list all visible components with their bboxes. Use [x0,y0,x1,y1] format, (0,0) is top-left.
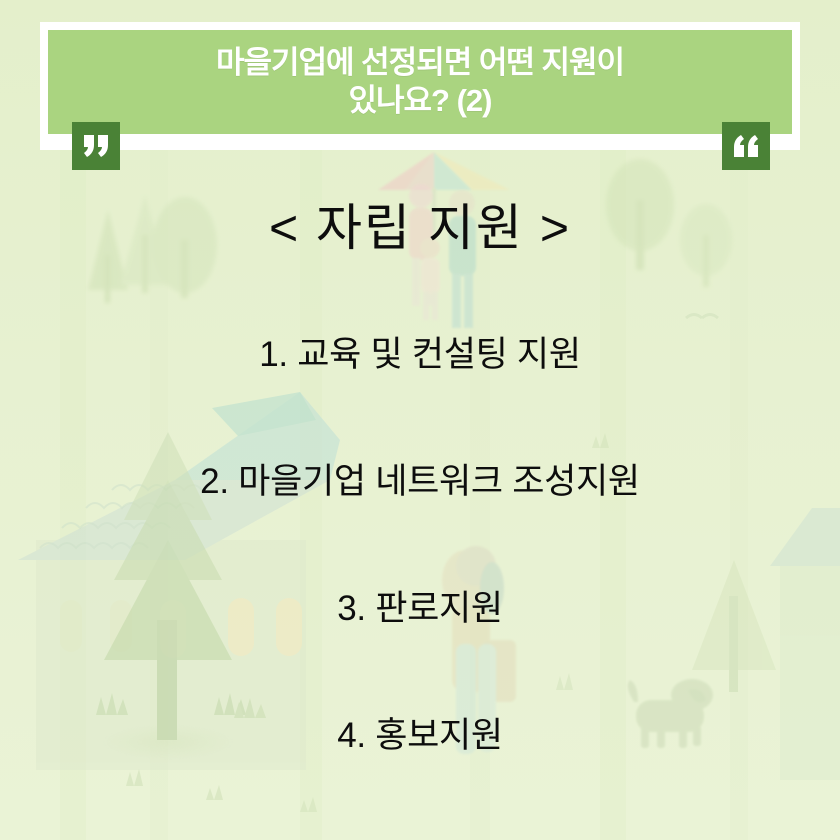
banner-title-text: 마을기업에 선정되면 어떤 지원이 있나요? (2) [194,44,646,120]
list-item: 3. 판로지원 [0,576,840,640]
banner-title-line2: 있나요? (2) [216,82,624,120]
open-quote-icon [81,133,111,159]
info-card: 마을기업에 선정되면 어떤 지원이 있나요? (2) < 자립 지원 > 1. … [0,0,840,840]
content-area: < 자립 지원 > 1. 교육 및 컨설팅 지원 2. 마을기업 네트워크 조성… [0,150,840,840]
section-heading: < 자립 지원 > [0,188,840,260]
list-item: 1. 교육 및 컨설팅 지원 [0,322,840,386]
close-quote-icon [731,133,761,159]
support-list: 1. 교육 및 컨설팅 지원 2. 마을기업 네트워크 조성지원 3. 판로지원… [0,322,840,767]
title-banner: 마을기업에 선정되면 어떤 지원이 있나요? (2) [48,30,792,134]
list-item: 4. 홍보지원 [0,703,840,767]
list-item: 2. 마을기업 네트워크 조성지원 [0,449,840,513]
close-quote-box [722,122,770,170]
banner-title-line1: 마을기업에 선정되면 어떤 지원이 [216,44,624,82]
open-quote-box [72,122,120,170]
